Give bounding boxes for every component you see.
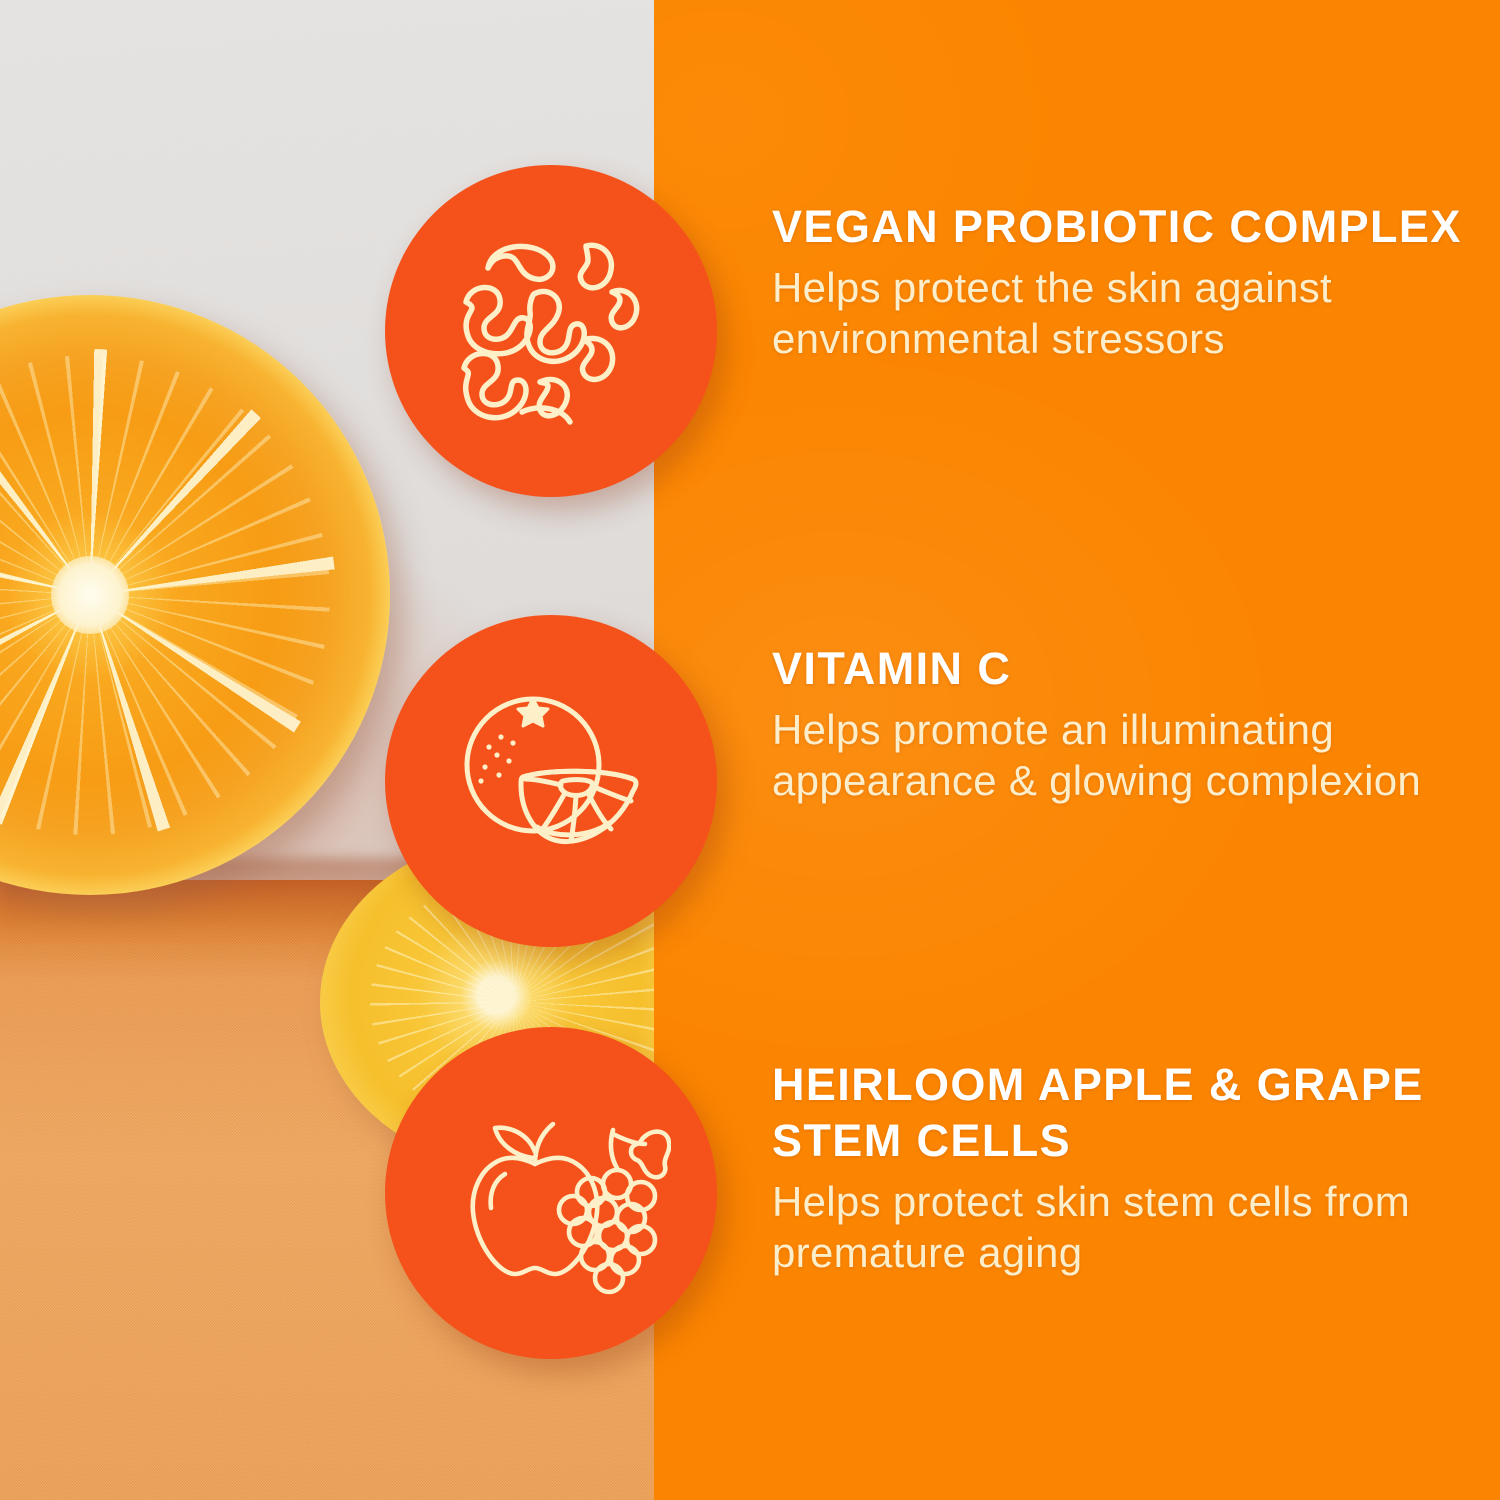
benefit-description: Helps protect skin stem cells from prema… <box>772 1176 1472 1279</box>
benefit-title: HEIRLOOM APPLE & GRAPE STEM CELLS <box>772 1057 1472 1169</box>
benefit-badge-probiotic <box>385 165 717 497</box>
apple-and-grapes-icon <box>431 1086 671 1301</box>
benefit-description: Helps protect the skin against environme… <box>772 262 1472 365</box>
ingredient-benefits-infographic: VEGAN PROBIOTIC COMPLEX Helps protect th… <box>0 0 1500 1500</box>
benefit-badge-vitamin-c <box>385 615 717 947</box>
benefit-row-vitamin-c: VITAMIN C Helps promote an illuminating … <box>0 615 1500 947</box>
orange-fruit-slice-icon <box>441 681 661 881</box>
benefit-text-vitamin-c: VITAMIN C Helps promote an illuminating … <box>772 615 1472 807</box>
benefit-text-probiotic: VEGAN PROBIOTIC COMPLEX Helps protect th… <box>772 165 1472 365</box>
benefit-text-stem-cells: HEIRLOOM APPLE & GRAPE STEM CELLS Helps … <box>772 1027 1472 1279</box>
benefit-row-stem-cells: HEIRLOOM APPLE & GRAPE STEM CELLS Helps … <box>0 1027 1500 1359</box>
probiotic-bacteria-icon <box>436 216 666 446</box>
benefit-title: VITAMIN C <box>772 641 1472 697</box>
benefit-badge-stem-cells <box>385 1027 717 1359</box>
benefit-title: VEGAN PROBIOTIC COMPLEX <box>772 199 1472 255</box>
benefit-row-probiotic: VEGAN PROBIOTIC COMPLEX Helps protect th… <box>0 165 1500 497</box>
benefit-description: Helps promote an illuminating appearance… <box>772 704 1472 807</box>
